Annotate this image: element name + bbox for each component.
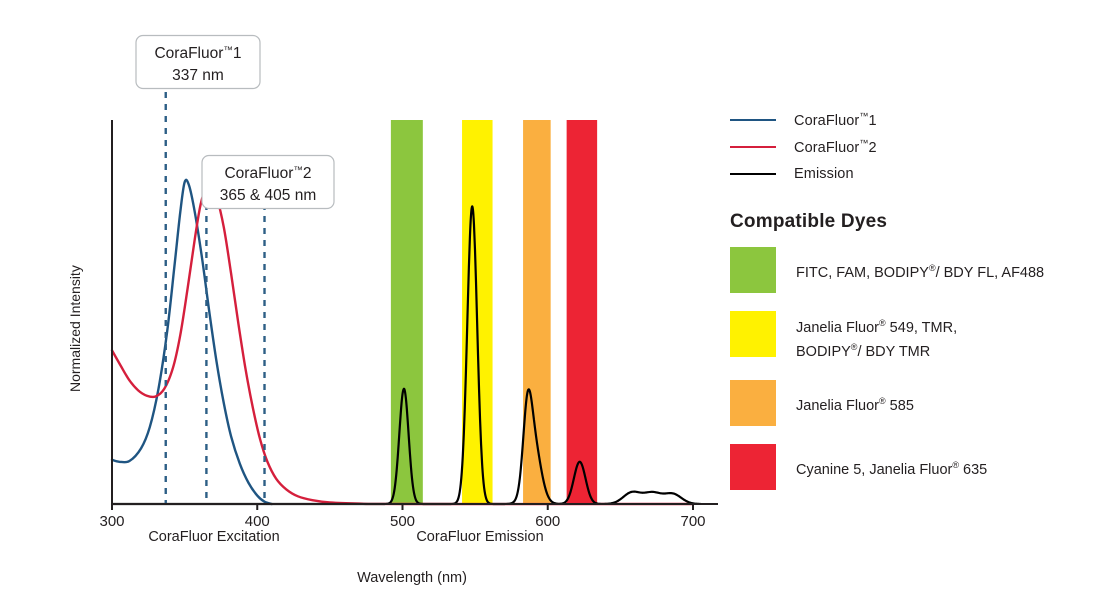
compatible-dyes-heading: Compatible Dyes — [730, 211, 1100, 233]
dye-item-0: FITC, FAM, BODIPY®/ BDY FL, AF488 — [730, 247, 1100, 293]
dye-color-swatch — [730, 247, 776, 293]
callout-two: CoraFluor™2365 & 405 nm — [202, 156, 334, 209]
x-axis-section-excitation: CoraFluor Excitation — [148, 529, 279, 545]
series-legend: CoraFluor™1CoraFluor™2Emission — [730, 106, 1100, 187]
green-band — [391, 120, 423, 504]
x-tick-label-400: 400 — [245, 513, 270, 530]
dye-item-label: Cyanine 5, Janelia Fluor® 635 — [796, 444, 987, 480]
compatible-dyes-list: FITC, FAM, BODIPY®/ BDY FL, AF488Janelia… — [730, 247, 1100, 490]
legend-item-0: CoraFluor™1 — [730, 106, 1100, 133]
dye-color-swatch — [730, 444, 776, 490]
x-axis-title: Wavelength (nm) — [357, 570, 467, 586]
legend-line-swatch — [730, 119, 776, 121]
x-tick-label-600: 600 — [535, 513, 560, 530]
x-tick-label-700: 700 — [680, 513, 705, 530]
callout-one: CoraFluor™1337 nm — [136, 36, 260, 89]
legend-line-swatch — [730, 146, 776, 148]
curve-excitation-1 — [112, 180, 272, 504]
dye-item-2: Janelia Fluor® 585 — [730, 380, 1100, 426]
dye-item-label: FITC, FAM, BODIPY®/ BDY FL, AF488 — [796, 247, 1044, 283]
dye-item-label: Janelia Fluor® 549, TMR,BODIPY®/ BDY TMR — [796, 311, 957, 362]
dye-item-3: Cyanine 5, Janelia Fluor® 635 — [730, 444, 1100, 490]
x-tick-label-500: 500 — [390, 513, 415, 530]
legend-item-2: Emission — [730, 160, 1100, 187]
x-axis-section-emission: CoraFluor Emission — [416, 529, 543, 545]
excitation-marker-lines — [166, 92, 265, 504]
dye-color-swatch — [730, 311, 776, 357]
emission-bands-group — [391, 120, 597, 504]
dye-item-label: Janelia Fluor® 585 — [796, 380, 914, 416]
red-band — [567, 120, 598, 504]
dye-item-1: Janelia Fluor® 549, TMR,BODIPY®/ BDY TMR — [730, 311, 1100, 362]
figure-root: 300400500600700 CoraFluor™1337 nmCoraFlu… — [0, 0, 1110, 612]
side-panel: CoraFluor™1CoraFluor™2Emission Compatibl… — [730, 106, 1100, 508]
callout-value: 365 & 405 nm — [220, 187, 317, 204]
x-tick-label-300: 300 — [99, 513, 124, 530]
legend-line-swatch — [730, 173, 776, 175]
y-axis-title: Normalized Intensity — [67, 265, 83, 392]
legend-item-label: Emission — [794, 166, 854, 182]
legend-item-label: CoraFluor™2 — [794, 138, 877, 156]
legend-item-label: CoraFluor™1 — [794, 111, 877, 129]
dye-color-swatch — [730, 380, 776, 426]
legend-item-1: CoraFluor™2 — [730, 133, 1100, 160]
callout-value: 337 nm — [172, 67, 224, 84]
